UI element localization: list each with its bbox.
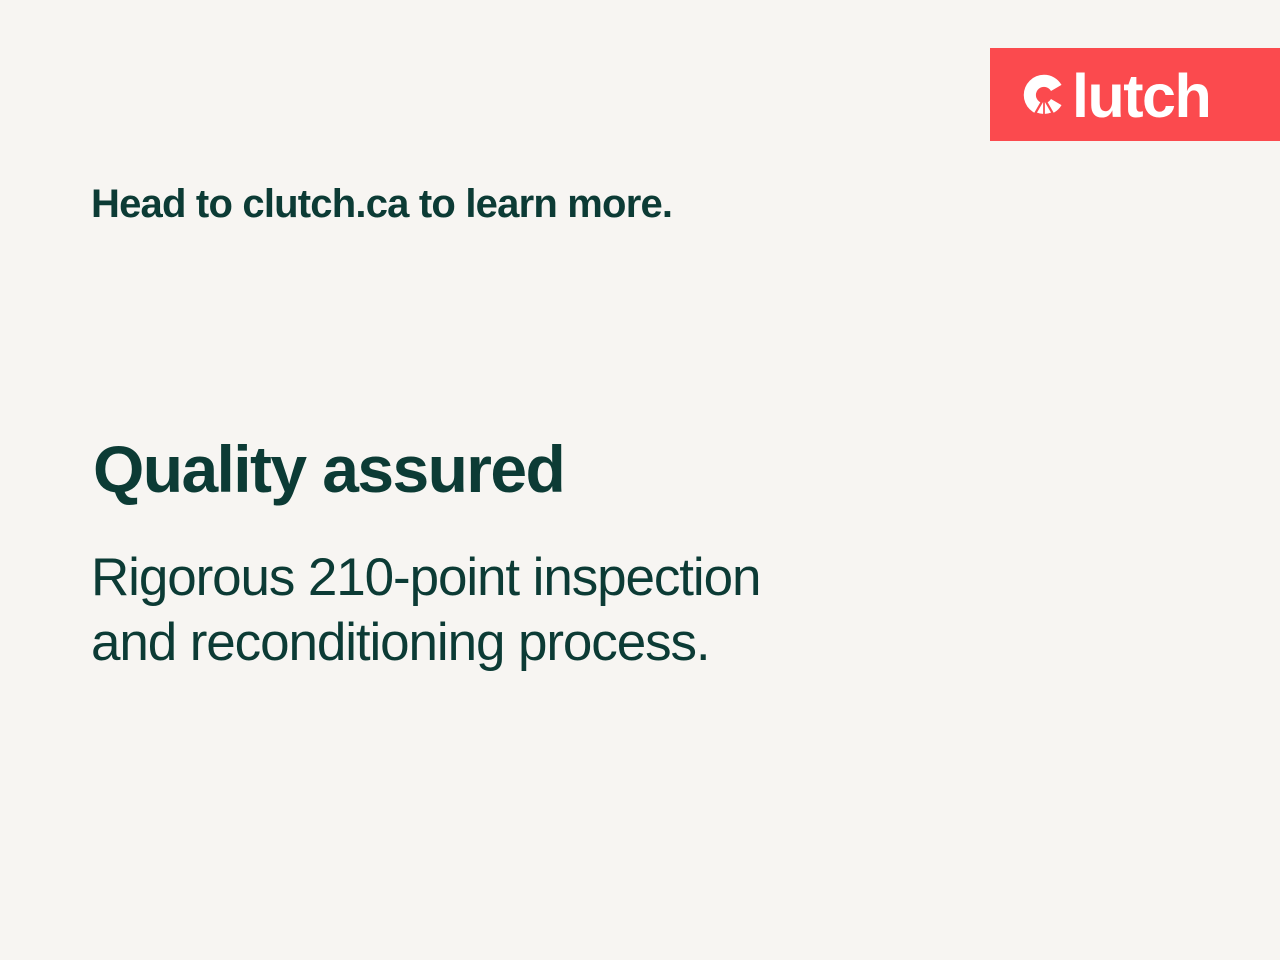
clutch-c-icon [1022, 73, 1066, 117]
tagline-text: Head to clutch.ca to learn more. [91, 181, 672, 227]
subcopy-text: Rigorous 210-point inspection and recond… [91, 546, 760, 675]
subcopy-line-1: Rigorous 210-point inspection [91, 546, 760, 611]
page-title: Quality assured [93, 434, 564, 505]
slide-canvas: lutch Head to clutch.ca to learn more. Q… [0, 0, 1280, 960]
subcopy-line-2: and reconditioning process. [91, 611, 760, 676]
clutch-wordmark: lutch [1022, 48, 1210, 141]
clutch-logo-block[interactable]: lutch [990, 48, 1280, 141]
clutch-logo-text: lutch [1072, 66, 1210, 127]
